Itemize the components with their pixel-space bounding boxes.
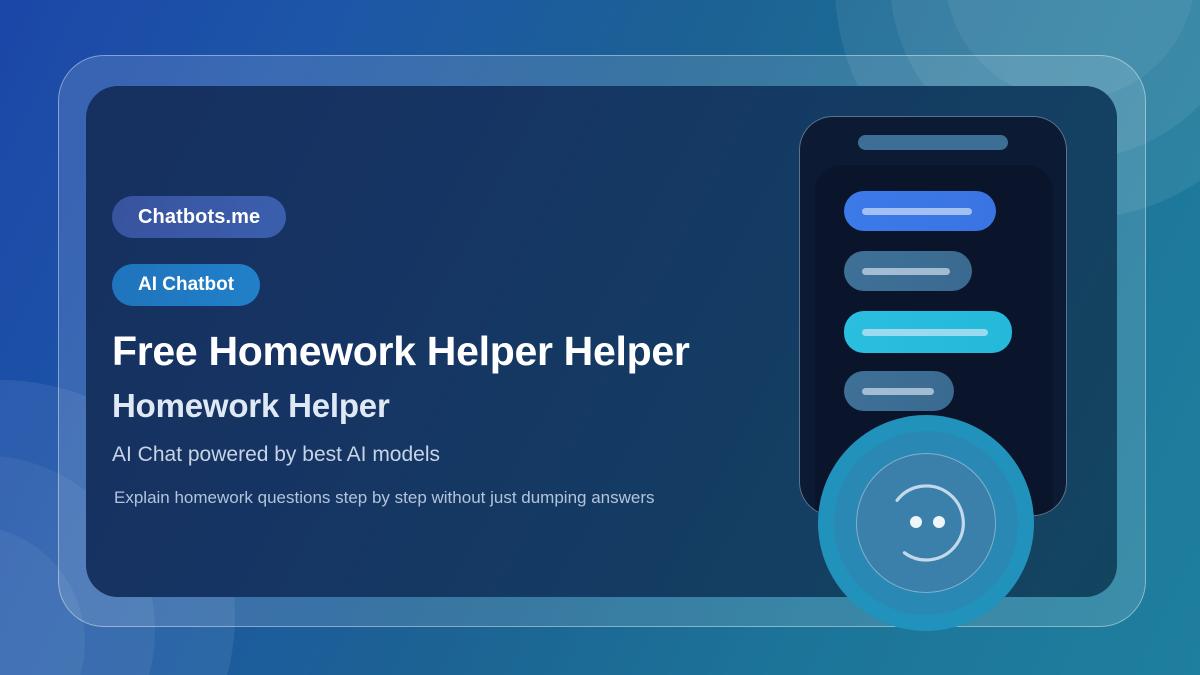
content-column: Chatbots.me AI Chatbot Free Homework Hel… [112,86,812,597]
brand-badge[interactable]: Chatbots.me [112,196,286,238]
chat-bubble-4-text-line [862,388,934,395]
chat-bubble-2-text-line [862,268,950,275]
description-text: Explain homework questions step by step … [114,488,794,508]
promo-banner: Chatbots.me AI Chatbot Free Homework Hel… [0,0,1200,675]
chat-bubble-1-text-line [862,208,972,215]
avatar [818,415,1034,631]
chat-bubble-3-text-line [862,329,988,336]
chat-bubble-4 [844,371,954,411]
category-badge[interactable]: AI Chatbot [112,264,260,306]
chat-bubble-3 [844,311,1012,353]
tagline-text: AI Chat powered by best AI models [112,443,792,467]
page-subtitle: Homework Helper [112,389,792,422]
smiley-face-icon [870,467,982,579]
phone-header-bar [858,135,1008,150]
page-title: Free Homework Helper Helper [112,331,792,372]
chat-bubble-2 [844,251,972,291]
chat-bubble-1 [844,191,996,231]
